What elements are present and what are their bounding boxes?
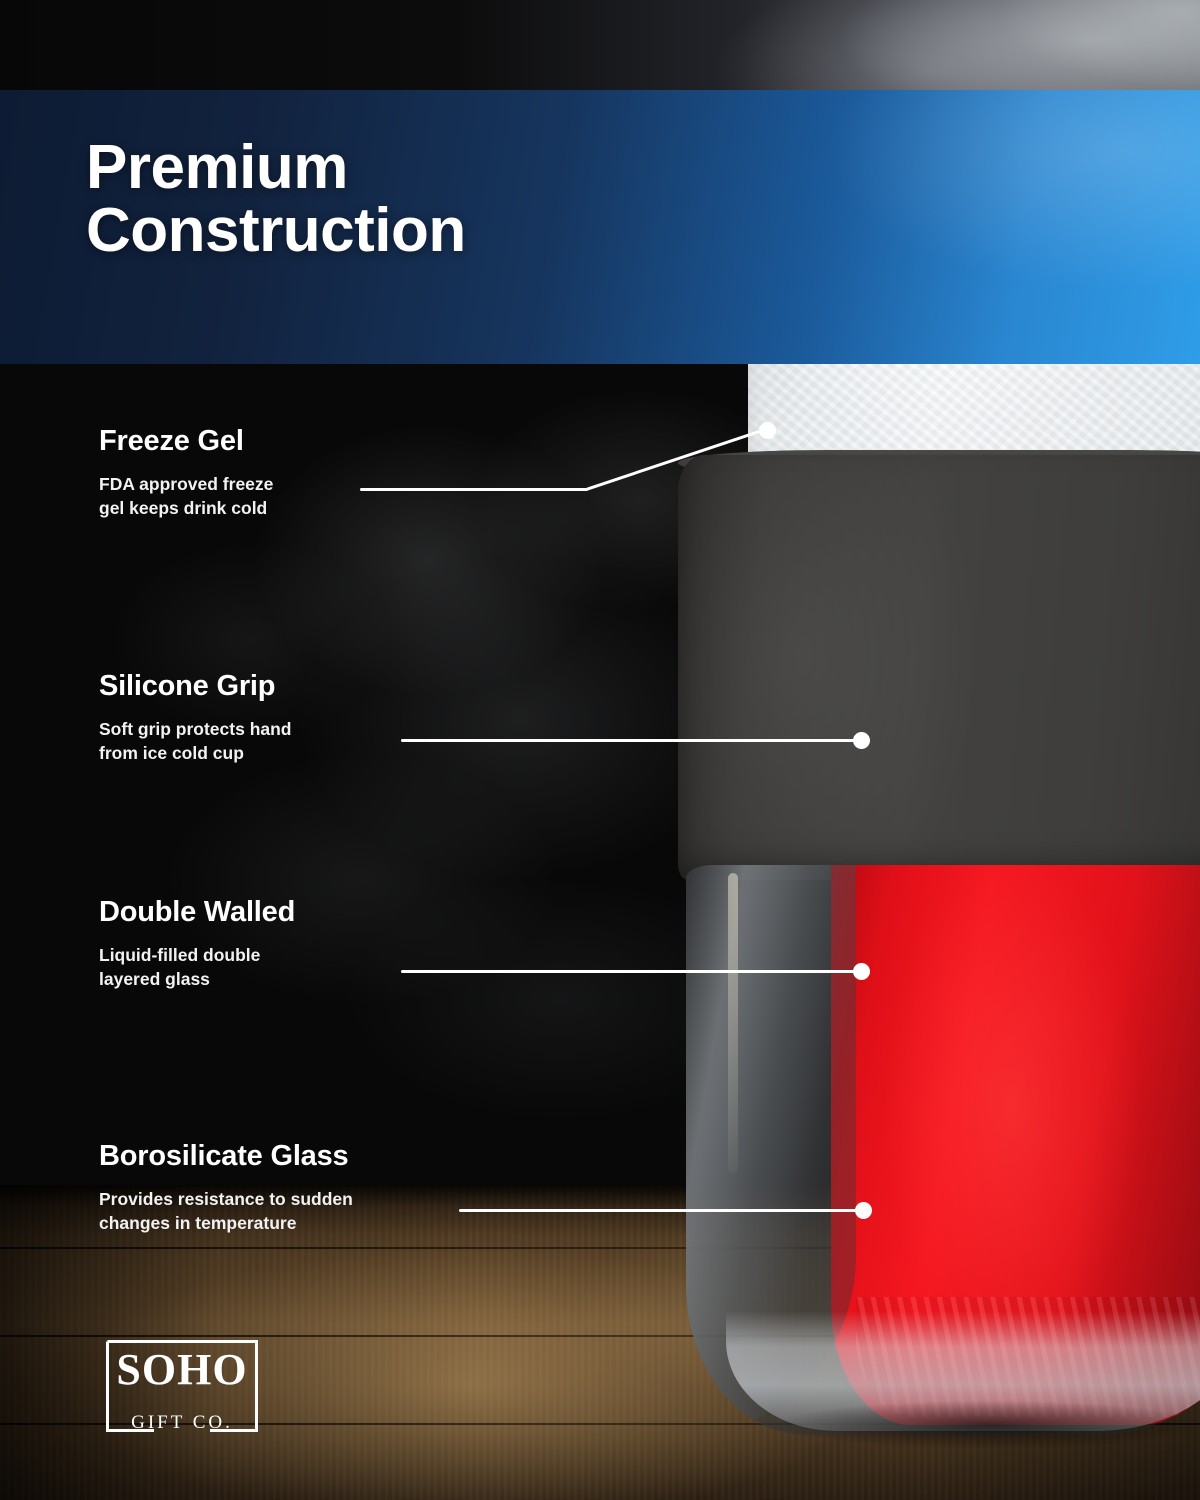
logo-tagline: GIFT CO. [106,1412,258,1434]
feature-title: Double Walled [99,896,295,929]
feature-description-line-2: gel keeps drink cold [99,496,273,520]
feature-description-line-1: Soft grip protects hand [99,717,292,741]
silicone-grip-band [678,455,1200,880]
logo-brand-name: SOHO [106,1348,258,1392]
top-smoke-strip [0,0,1200,92]
feature-title: Freeze Gel [99,425,273,458]
feature-title: Borosilicate Glass [99,1140,353,1173]
feature-description-line-2: changes in temperature [99,1211,353,1235]
feature-borosilicate-glass: Borosilicate Glass Provides resistance t… [99,1140,353,1235]
double-walled-glass [686,865,1200,1435]
feature-description-line-1: Provides resistance to sudden [99,1187,353,1211]
brand-logo: SOHO GIFT CO. [106,1340,258,1432]
feature-title: Silicone Grip [99,670,292,703]
page-title-line-1: Premium [86,136,466,199]
feature-description-line-2: from ice cold cup [99,741,292,765]
glass-contact-shadow [690,1390,1200,1460]
feature-description-line-1: FDA approved freeze [99,472,273,496]
page-title: Premium Construction [86,136,466,262]
glass-highlight [728,873,738,1173]
infographic-canvas: Premium Construction Freeze Gel FDA appr… [0,0,1200,1500]
feature-freeze-gel: Freeze Gel FDA approved freeze gel keeps… [99,425,273,520]
feature-double-walled: Double Walled Liquid-filled double layer… [99,896,295,991]
feature-description-line-2: layered glass [99,967,295,991]
feature-description-line-1: Liquid-filled double [99,943,295,967]
feature-silicone-grip: Silicone Grip Soft grip protects hand fr… [99,670,292,765]
page-title-line-2: Construction [86,199,466,262]
